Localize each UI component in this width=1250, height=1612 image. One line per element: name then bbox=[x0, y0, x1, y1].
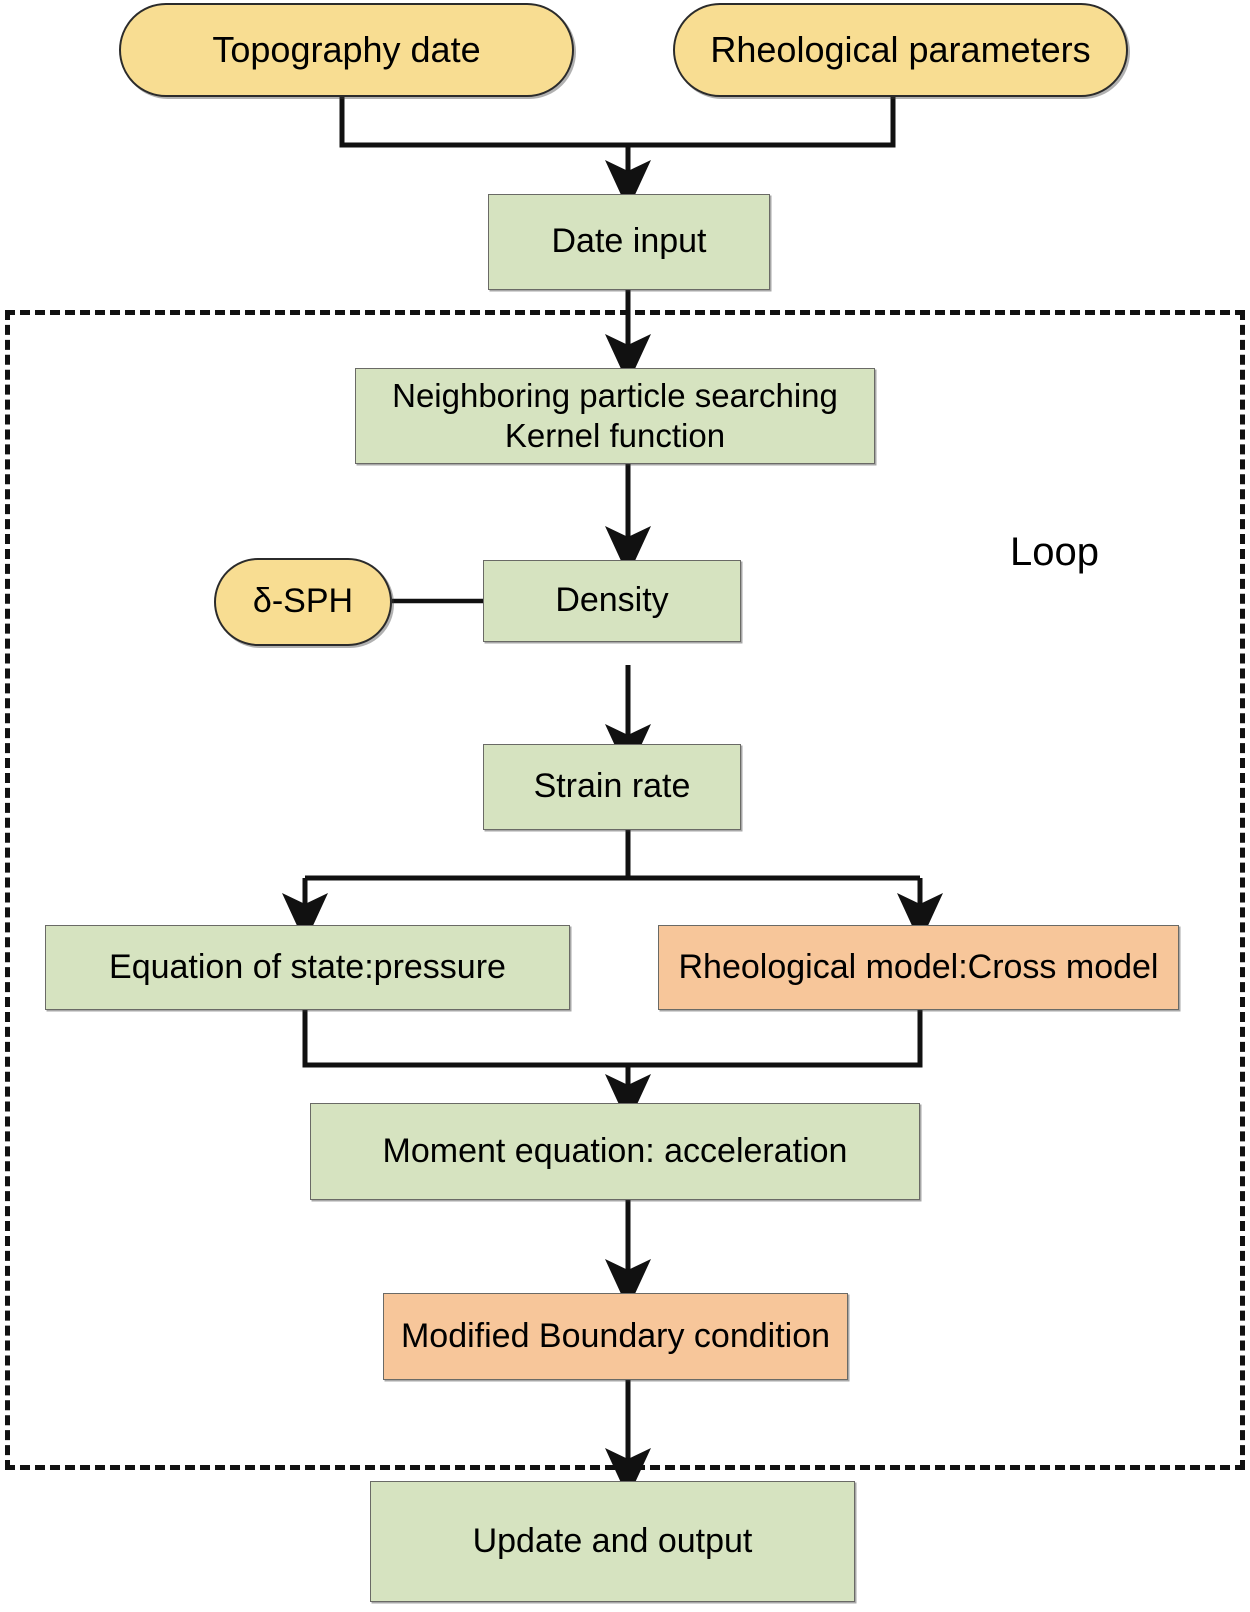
node-density[interactable]: Density bbox=[483, 560, 741, 642]
node-strain-rate[interactable]: Strain rate bbox=[483, 744, 741, 830]
neighboring-line-2: Kernel function bbox=[505, 416, 725, 456]
flowchart-canvas: Loop bbox=[0, 0, 1250, 1612]
node-neighboring-particle-searching[interactable]: Neighboring particle searching Kernel fu… bbox=[355, 368, 875, 464]
node-topography-date[interactable]: Topography date bbox=[119, 3, 574, 97]
node-date-input[interactable]: Date input bbox=[488, 194, 770, 290]
node-modified-boundary-condition[interactable]: Modified Boundary condition bbox=[383, 1293, 848, 1380]
node-update-and-output[interactable]: Update and output bbox=[370, 1481, 855, 1602]
node-rheological-model[interactable]: Rheological model:Cross model bbox=[658, 925, 1179, 1010]
node-rheological-parameters[interactable]: Rheological parameters bbox=[673, 3, 1128, 97]
neighboring-line-1: Neighboring particle searching bbox=[392, 376, 838, 416]
loop-label: Loop bbox=[1010, 530, 1099, 575]
node-moment-equation[interactable]: Moment equation: acceleration bbox=[310, 1103, 920, 1200]
node-equation-of-state[interactable]: Equation of state:pressure bbox=[45, 925, 570, 1010]
node-delta-sph[interactable]: δ-SPH bbox=[214, 558, 392, 646]
